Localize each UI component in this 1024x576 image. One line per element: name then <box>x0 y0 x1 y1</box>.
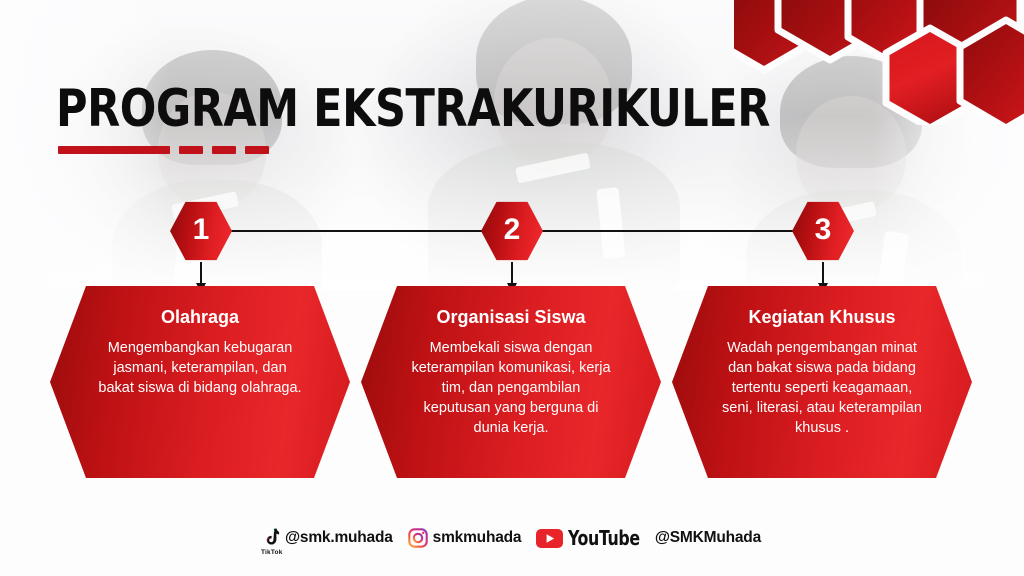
page-title: PROGRAM EKSTRAKURIKULER <box>56 82 832 136</box>
card-title: Organisasi Siswa <box>436 306 585 328</box>
title-underline <box>58 146 269 154</box>
tiktok-icon <box>263 528 280 548</box>
social-youtube[interactable]: YouTube @SMKMuhada <box>536 528 761 548</box>
timeline-step-2[interactable]: 2 <box>481 200 543 262</box>
card-title: Olahraga <box>161 306 239 328</box>
instagram-handle: smkmuhada <box>433 528 522 548</box>
social-tiktok[interactable]: TikTok @smk.muhada <box>263 528 393 548</box>
photo-fade-left <box>0 0 170 290</box>
timeline-step-1[interactable]: 1 <box>170 200 232 262</box>
program-card-1[interactable]: Olahraga Mengembangkan kebugaran jasmani… <box>50 286 350 478</box>
tiktok-handle: @smk.muhada <box>285 528 393 548</box>
youtube-icon <box>536 529 563 548</box>
step-number: 2 <box>481 200 543 262</box>
underline-dash <box>245 146 269 154</box>
step-number: 3 <box>792 200 854 262</box>
step-number: 1 <box>170 200 232 262</box>
social-instagram[interactable]: smkmuhada <box>408 528 522 548</box>
program-card-3[interactable]: Kegiatan Khusus Wadah pengembangan minat… <box>672 286 972 478</box>
card-body: Wadah pengembangan minat dan bakat siswa… <box>718 338 926 438</box>
program-card-2[interactable]: Organisasi Siswa Membekali siswa dengan … <box>361 286 661 478</box>
social-footer: TikTok @smk.muhada smkmuhada <box>0 528 1024 548</box>
slide-canvas: PROGRAM EKSTRAKURIKULER 1 2 3 Olahraga M… <box>0 0 1024 576</box>
instagram-icon <box>408 528 428 548</box>
page-title-text: PROGRAM EKSTRAKURIKULER <box>56 82 770 136</box>
card-title: Kegiatan Khusus <box>748 306 895 328</box>
tiktok-wordmark: TikTok <box>261 549 283 556</box>
underline-dash <box>179 146 203 154</box>
underline-bar <box>58 146 170 154</box>
card-body: Membekali siswa dengan keterampilan komu… <box>407 338 615 438</box>
underline-dash <box>212 146 236 154</box>
timeline-step-3[interactable]: 3 <box>792 200 854 262</box>
youtube-handle: @SMKMuhada <box>655 528 761 548</box>
card-body: Mengembangkan kebugaran jasmani, keteram… <box>96 338 304 398</box>
youtube-wordmark: YouTube <box>568 528 640 548</box>
